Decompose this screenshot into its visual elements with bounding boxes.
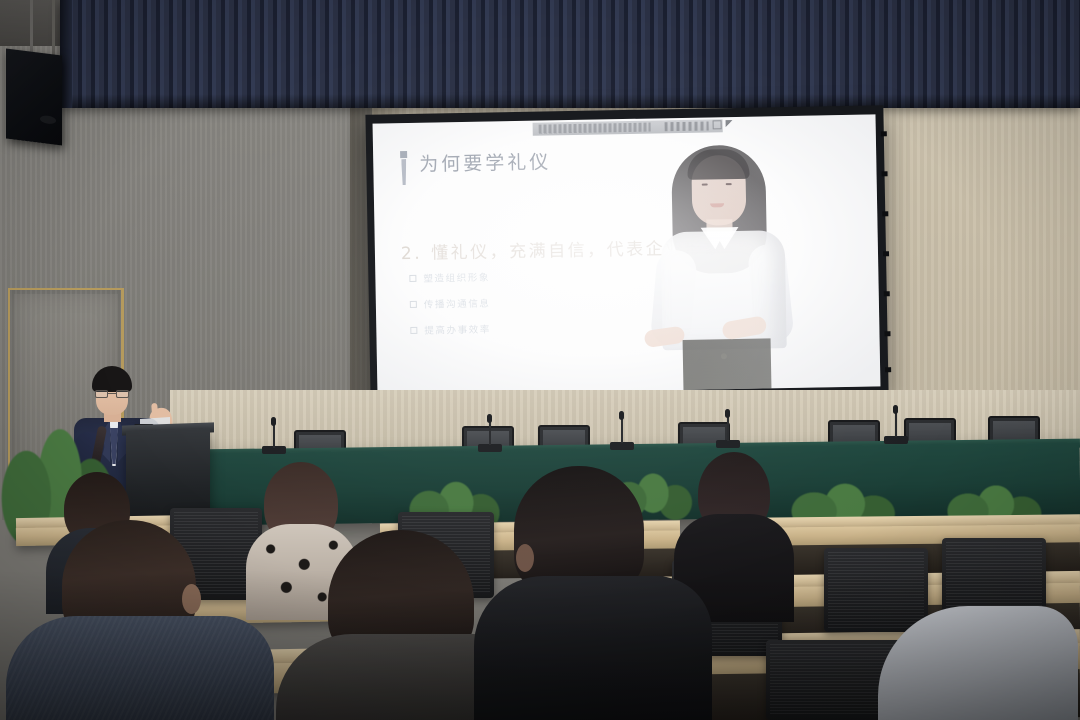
bullet-label: 塑造组织形象: [423, 270, 490, 285]
projection-screen: 为何要学礼仪 2.懂礼仪，充满自信，代表企业形象 塑造组织形象 传播沟通信息 提…: [365, 105, 888, 404]
pen-icon[interactable]: [726, 120, 734, 129]
eyeglasses-icon: [95, 390, 129, 398]
necktie-icon: [400, 151, 408, 185]
grid-icon[interactable]: [713, 120, 722, 129]
navy-pleated-valance: [60, 0, 1080, 108]
microphone-stem: [727, 416, 729, 441]
microphone-base: [610, 442, 634, 450]
microphone-icon: [893, 405, 898, 414]
attendee-front-left: [6, 520, 276, 720]
microphone-icon: [725, 409, 730, 418]
microphone-stem: [273, 424, 275, 448]
bullet-label: 传播沟通信息: [424, 296, 491, 311]
speaker-mount-rod: [52, 0, 55, 58]
microphone-icon: [619, 411, 624, 420]
checkbox-icon: [410, 326, 417, 333]
checkbox-icon: [409, 274, 416, 281]
list-item: 塑造组织形象: [409, 270, 490, 285]
microphone-icon: [271, 417, 276, 426]
attendee-front-right: [474, 466, 714, 720]
microphone-stem: [895, 412, 897, 437]
slide-menu-label[interactable]: [665, 121, 709, 131]
microphone-base: [478, 444, 502, 452]
slide-heading-number: 2.: [401, 244, 423, 264]
seminar-room-photo: 为何要学礼仪 2.懂礼仪，充满自信，代表企业形象 塑造组织形象 传播沟通信息 提…: [0, 0, 1080, 720]
attendee-far-right: [878, 596, 1080, 720]
checkbox-icon: [410, 300, 417, 307]
ceiling-speaker-icon: [6, 49, 62, 146]
slide-title: 为何要学礼仪: [419, 147, 551, 176]
etiquette-model-photo: [625, 138, 820, 391]
list-item: 传播沟通信息: [410, 296, 491, 311]
microphone-stem: [621, 418, 623, 443]
microphone-base: [884, 436, 908, 444]
microphone-stem: [489, 421, 491, 445]
slide-bullet-list: 塑造组织形象 传播沟通信息 提高办事效率: [409, 270, 491, 349]
microphone-base: [716, 440, 740, 448]
microphone-icon: [487, 414, 492, 423]
slide-surface: 为何要学礼仪 2.懂礼仪，充满自信，代表企业形象 塑造组织形象 传播沟通信息 提…: [373, 114, 881, 395]
list-item: 提高办事效率: [410, 322, 491, 337]
bullet-label: 提高办事效率: [424, 322, 491, 337]
